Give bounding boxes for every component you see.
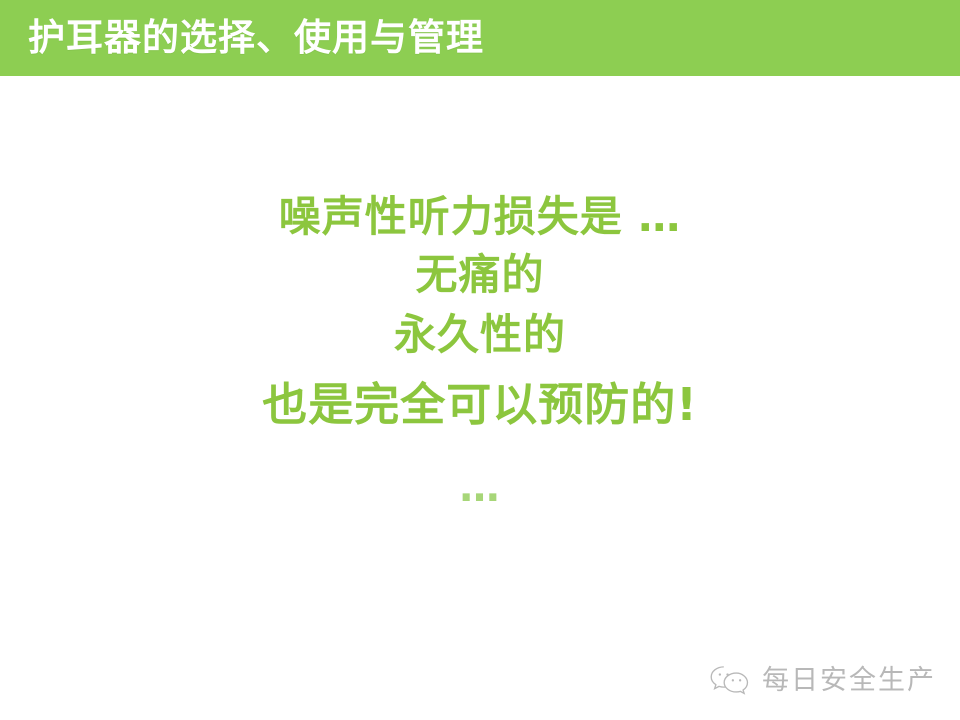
content-line-2: 无痛的 [0, 246, 960, 304]
watermark: 每日安全生产 [709, 664, 936, 698]
header-bar: 护耳器的选择、使用与管理 [0, 0, 960, 76]
content-line-5-ellipsis: … [0, 462, 960, 514]
content-text-block: 噪声性听力损失是 … 无痛的 永久性的 也是完全可以预防的! … [0, 188, 960, 514]
wechat-logo-icon [709, 664, 751, 698]
slide-canvas: 护耳器的选择、使用与管理 噪声性听力损失是 … 无痛的 永久性的 也是完全可以预… [0, 0, 960, 720]
page-title: 护耳器的选择、使用与管理 [28, 14, 484, 62]
content-line-4: 也是完全可以预防的! [0, 374, 960, 436]
content-line-1: 噪声性听力损失是 … [0, 188, 960, 246]
content-line-3: 永久性的 [0, 306, 960, 364]
watermark-label: 每日安全生产 [762, 666, 936, 696]
